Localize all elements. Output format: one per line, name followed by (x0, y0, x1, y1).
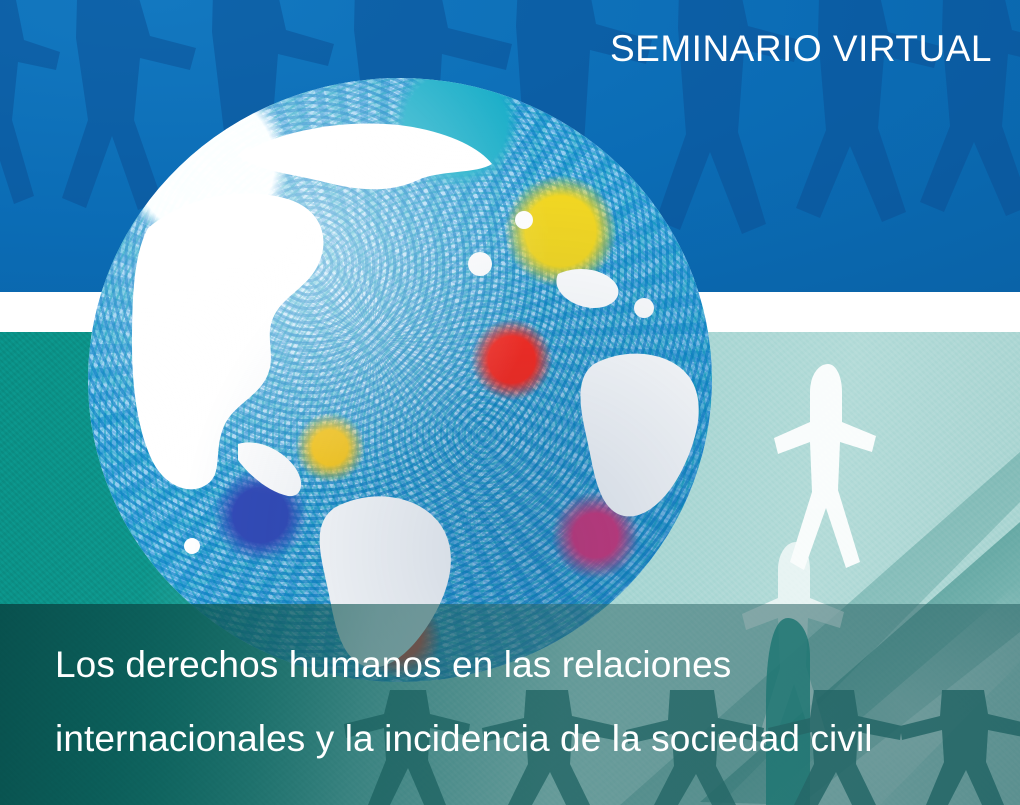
banner-title-line-1: Los derechos humanos en las relaciones (55, 628, 1005, 702)
globe-illustration (88, 78, 712, 682)
seminar-banner: SEMINARIO VIRTUAL Los derechos humanos e… (0, 0, 1020, 805)
globe-continents (88, 78, 712, 682)
banner-title-line-2: internacionales y la incidencia de la so… (55, 702, 1005, 776)
seminar-kicker-label: SEMINARIO VIRTUAL (610, 30, 992, 67)
globe-sphere (88, 78, 712, 682)
banner-title: Los derechos humanos en las relaciones i… (55, 628, 1005, 776)
